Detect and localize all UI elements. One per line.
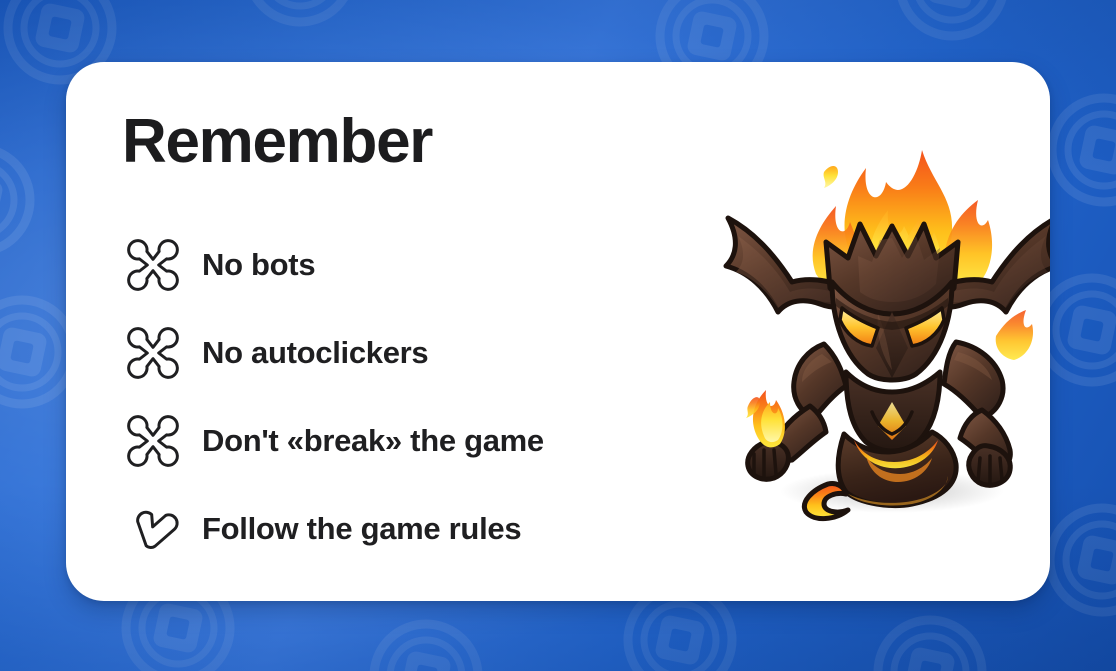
cross-icon — [122, 410, 184, 472]
page-title: Remember — [122, 110, 732, 173]
rule-label: No autoclickers — [202, 335, 428, 371]
cross-icon — [122, 322, 184, 384]
rules-list: No bots No autoclickers — [122, 221, 732, 573]
rule-item-follow-the-game-rules: Follow the game rules — [122, 485, 732, 573]
rule-label: No bots — [202, 247, 315, 283]
rule-item-dont-break-the-game: Don't «break» the game — [122, 397, 732, 485]
checkmark-icon — [122, 498, 184, 560]
info-card: Remember No bots — [66, 62, 1050, 601]
fire-shadow-demon-illustration — [696, 106, 1050, 526]
rule-item-no-autoclickers: No autoclickers — [122, 309, 732, 397]
card-content: Remember No bots — [122, 110, 732, 573]
poster-stage: Remember No bots — [0, 0, 1116, 671]
rule-item-no-bots: No bots — [122, 221, 732, 309]
cross-icon — [122, 234, 184, 296]
rule-label: Follow the game rules — [202, 511, 521, 547]
rule-label: Don't «break» the game — [202, 423, 544, 459]
bat-wing-helmet — [726, 218, 1050, 314]
